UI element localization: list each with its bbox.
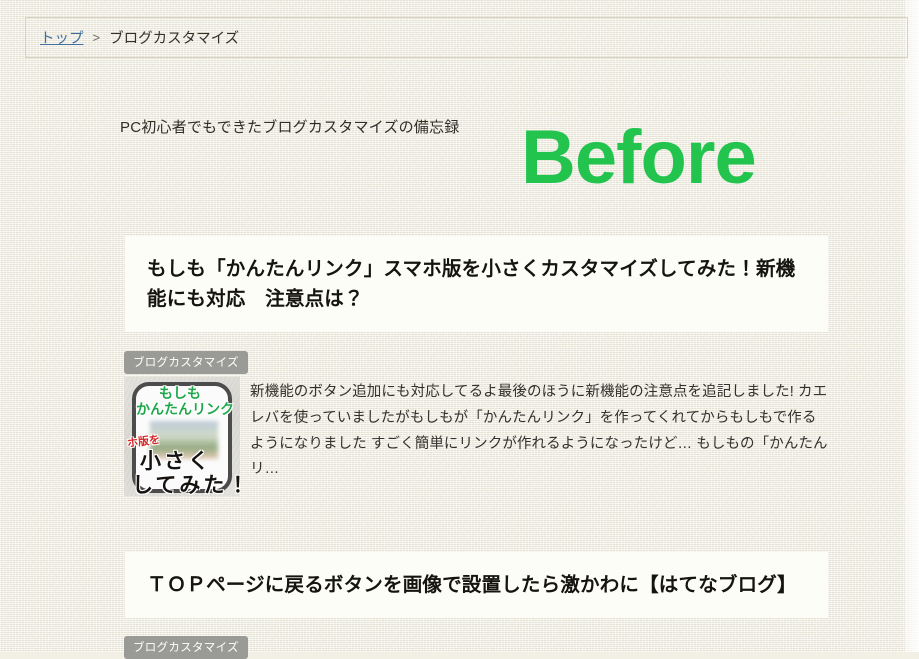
entry-title-card[interactable]: もしも「かんたんリンク」スマホ版を小さくカスタマイズしてみた！新機能にも対応 注… (125, 236, 828, 332)
entry-category-badge[interactable]: ブログカスタマイズ (124, 351, 248, 374)
breadcrumb-current: ブログカスタマイズ (109, 27, 239, 48)
before-annotation-label: Before (521, 120, 756, 196)
entry-category-badge[interactable]: ブログカスタマイズ (124, 636, 248, 659)
blog-subtitle: PC初心者でもできたブログカスタマイズの備忘録 (120, 116, 459, 137)
entry-thumbnail[interactable]: もしも かんたんリンク ホ版を 小さく してみた！ (124, 377, 240, 496)
entry-title-card[interactable]: ＴＯＰページに戻るボタンを画像で設置したら激かわに【はてなブログ】 (125, 552, 828, 618)
breadcrumb: トップ > ブログカスタマイズ (25, 17, 908, 58)
breadcrumb-separator-icon: > (93, 30, 101, 45)
thumbnail-text-black-line2: してみた！ (132, 469, 240, 496)
breadcrumb-home-link[interactable]: トップ (40, 27, 84, 48)
thumbnail-text-green-line2: かんたんリンク (136, 399, 234, 419)
page-content: トップ > ブログカスタマイズ PC初心者でもできたブログカスタマイズの備忘録 … (0, 0, 919, 652)
entry-excerpt[interactable]: 新機能のボタン追加にも対応してるよ最後のほうに新機能の注意点を追記しました! カ… (250, 380, 830, 483)
